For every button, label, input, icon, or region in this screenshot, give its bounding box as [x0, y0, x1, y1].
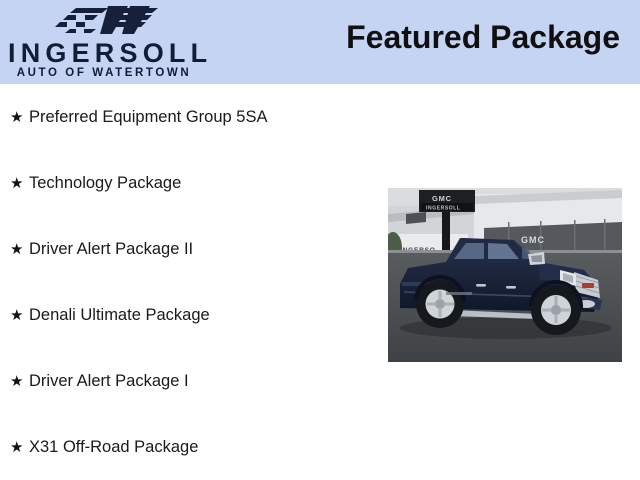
brand-name: INGERSOLL — [8, 40, 200, 67]
list-item-label: Technology Package — [29, 175, 181, 192]
star-bullet-icon: ★ — [10, 440, 29, 455]
list-item-label: X31 Off-Road Package — [29, 439, 198, 456]
list-item: ★ Denali Ultimate Package — [10, 303, 210, 327]
svg-text:GMC: GMC — [432, 194, 452, 203]
star-bullet-icon: ★ — [10, 242, 29, 257]
page-title: Featured Package — [346, 18, 620, 56]
list-item: ★ X31 Off-Road Package — [10, 435, 198, 459]
list-item: ★ Technology Package — [10, 171, 181, 195]
ingersoll-winged-flag-emblem-icon — [46, 2, 164, 38]
star-bullet-icon: ★ — [10, 176, 29, 191]
svg-text:INGERSOLL: INGERSOLL — [426, 206, 461, 212]
brand-logo-block: INGERSOLL AUTO OF WATERTOWN — [0, 0, 210, 84]
vehicle-photo: GMC INGERSO GMC INGERSOLL — [388, 188, 622, 362]
star-bullet-icon: ★ — [10, 110, 29, 125]
list-item: ★ Driver Alert Package I — [10, 369, 189, 393]
star-bullet-icon: ★ — [10, 374, 29, 389]
list-item-label: Denali Ultimate Package — [29, 307, 210, 324]
header-band: INGERSOLL AUTO OF WATERTOWN Featured Pac… — [0, 0, 640, 84]
svg-text:GMC: GMC — [521, 235, 545, 245]
list-item: ★ Driver Alert Package II — [10, 237, 193, 261]
list-item-label: Driver Alert Package I — [29, 373, 189, 390]
list-item-label: Driver Alert Package II — [29, 241, 193, 258]
brand-tagline: AUTO OF WATERTOWN — [8, 68, 200, 80]
list-item-label: Preferred Equipment Group 5SA — [29, 109, 267, 126]
star-bullet-icon: ★ — [10, 308, 29, 323]
list-item: ★ Preferred Equipment Group 5SA — [10, 105, 267, 129]
